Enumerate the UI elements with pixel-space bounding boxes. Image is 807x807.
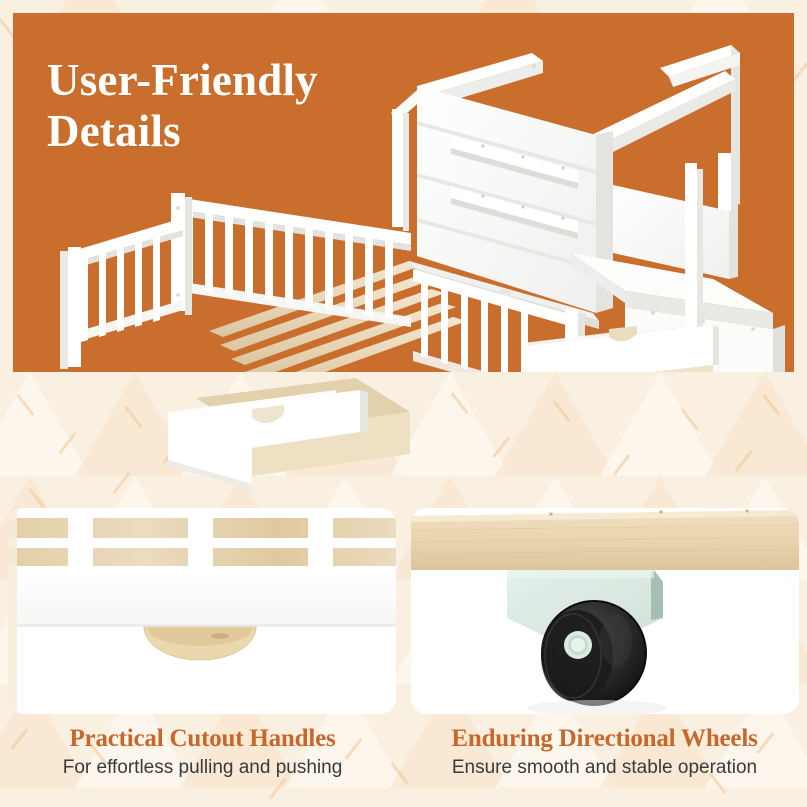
- hero-panel: User-Friendly Details: [13, 13, 794, 372]
- detail-photo-directional-wheels: [411, 508, 799, 714]
- caption-title-cutout-handles: Practical Cutout Handles: [5, 724, 400, 754]
- bed-drawer: [160, 360, 420, 500]
- side-rail-front: [60, 218, 183, 369]
- caption-subtitle-directional-wheels: Ensure smooth and stable operation: [407, 757, 802, 780]
- caption-subtitle-cutout-handles: For effortless pulling and pushing: [5, 757, 400, 780]
- caption-title-directional-wheels: Enduring Directional Wheels: [407, 724, 802, 754]
- bench-drawer: [523, 325, 719, 372]
- detail-photo-cutout-handles: [8, 508, 396, 714]
- marketing-image: User-Friendly Details: [0, 0, 807, 807]
- page-title: User-Friendly Details: [47, 55, 318, 157]
- caption-directional-wheels: Enduring Directional Wheels Ensure smoot…: [407, 724, 802, 779]
- caption-cutout-handles: Practical Cutout Handles For effortless …: [5, 724, 400, 779]
